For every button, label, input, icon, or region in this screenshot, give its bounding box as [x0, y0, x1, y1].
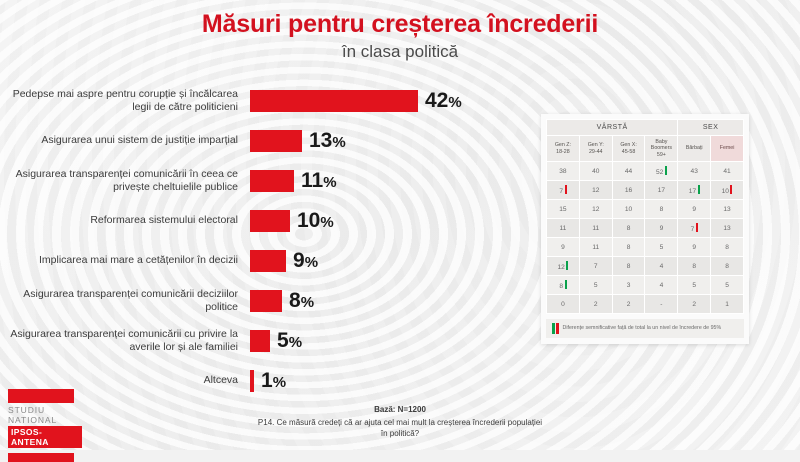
- significance-marker-up-icon: [565, 280, 567, 289]
- chart-bar-value-percent-sign: %: [289, 334, 302, 351]
- chart-bar-value-percent-sign: %: [305, 254, 318, 271]
- footnote: Bază: N=1200 P14. Ce măsură credeți că a…: [255, 404, 545, 440]
- chart-row-label: Asigurarea transparenței comunicării în …: [0, 168, 250, 195]
- crosstab-row: 111189713: [547, 219, 744, 238]
- footnote-base: Bază: N=1200: [255, 404, 545, 416]
- crosstab-cell-value: 11: [559, 225, 566, 232]
- logo-text: STUDIU NATIONAL IPSOS-ANTENA: [8, 406, 82, 450]
- chart-bar-value: 1%: [261, 369, 286, 393]
- crosstab-cell-value: -: [660, 301, 662, 308]
- crosstab-cell: 2: [579, 295, 612, 314]
- crosstab-cell: 9: [645, 219, 678, 238]
- crosstab-cell: 10: [612, 200, 645, 219]
- crosstab-cell-value: 5: [725, 282, 729, 289]
- chart-bar-wrap: 13%: [250, 129, 536, 153]
- chart-bar-wrap: 11%: [250, 169, 536, 193]
- crosstab-cell: 17: [645, 181, 678, 200]
- crosstab-cell-value: 4: [660, 282, 664, 289]
- crosstab-cell: 7: [579, 257, 612, 276]
- logo-bar-bottom: [8, 453, 74, 462]
- crosstab-cell-value: 13: [723, 206, 730, 213]
- crosstab-cell-value: 2: [692, 301, 696, 308]
- bar-chart: Pedepse mai aspre pentru corupție și înc…: [0, 84, 536, 404]
- crosstab-cell: 17: [678, 181, 711, 200]
- crosstab-cell-value: 8: [725, 244, 729, 251]
- crosstab-cell-value: 12: [592, 187, 599, 194]
- crosstab-cell-value: 40: [592, 168, 599, 175]
- chart-row-label: Asigurarea unui sistem de justiție impar…: [0, 134, 250, 147]
- crosstab-cell-value: 9: [660, 225, 664, 232]
- crosstab-column-header: Gen Y:29-44: [579, 136, 612, 162]
- crosstab-cell-value: 1: [725, 301, 729, 308]
- chart-bar-value-percent-sign: %: [448, 94, 461, 111]
- crosstab-cell: 9: [678, 238, 711, 257]
- crosstab-column-header-row: Gen Z:18-28Gen Y:29-44Gen X:45-58BabyBoo…: [547, 136, 744, 162]
- chart-bar-wrap: 10%: [250, 209, 536, 233]
- crosstab-row: 71216171710: [547, 181, 744, 200]
- logo-bar-top: [8, 389, 74, 403]
- crosstab-cell-value: 8: [627, 244, 631, 251]
- crosstab-cell-value: 0: [561, 301, 565, 308]
- chart-bar-value: 11%: [301, 169, 337, 193]
- crosstab-cell: 11: [579, 219, 612, 238]
- chart-bar-wrap: 9%: [250, 249, 536, 273]
- crosstab-cell-value: 7: [594, 263, 598, 270]
- chart-bar-value-number: 8: [289, 289, 301, 312]
- crosstab-cell: 1: [711, 295, 744, 314]
- crosstab-cell-value: 12: [592, 206, 599, 213]
- crosstab-cell: 40: [579, 162, 612, 181]
- page-subtitle: în clasa politică: [0, 42, 800, 62]
- chart-bar: [250, 330, 270, 352]
- chart-bar-wrap: 42%: [250, 89, 536, 113]
- chart-row: Asigurarea transparenței comunicării cu …: [0, 324, 536, 358]
- crosstab-cell: 44: [612, 162, 645, 181]
- crosstab-cell: 41: [711, 162, 744, 181]
- crosstab-panel: VÂRSTĂSEXGen Z:18-28Gen Y:29-44Gen X:45-…: [541, 114, 749, 344]
- chart-bar-wrap: 8%: [250, 289, 536, 313]
- crosstab-cell-value: 43: [691, 168, 698, 175]
- chart-bar-wrap: 5%: [250, 329, 536, 353]
- crosstab-cell: 4: [645, 276, 678, 295]
- crosstab-cell: 11: [579, 238, 612, 257]
- crosstab-cell: 38: [547, 162, 580, 181]
- crosstab-cell-value: 8: [627, 263, 631, 270]
- crosstab-cell: 8: [711, 238, 744, 257]
- crosstab-cell-value: 8: [660, 206, 664, 213]
- chart-bar: [250, 250, 286, 272]
- crosstab-cell: 12: [579, 181, 612, 200]
- crosstab-cell: 5: [579, 276, 612, 295]
- page-title: Măsuri pentru creșterea încrederii: [0, 11, 800, 39]
- crosstab-cell-value: 5: [692, 282, 696, 289]
- significance-legend: Diferențe semnificative față de total la…: [546, 319, 744, 338]
- crosstab-row: 022-21: [547, 295, 744, 314]
- footnote-question: P14. Ce măsură credeți că ar ajuta cel m…: [258, 418, 542, 439]
- crosstab-cell: 2: [678, 295, 711, 314]
- crosstab-row: 9118598: [547, 238, 744, 257]
- crosstab-row: 1278488: [547, 257, 744, 276]
- chart-bar-value: 8%: [289, 289, 314, 313]
- significance-marker-down-icon: [730, 185, 732, 194]
- crosstab-cell-value: 10: [722, 188, 729, 195]
- logo-line-national: NATIONAL: [8, 416, 82, 426]
- crosstab-column-header: Femei: [711, 136, 744, 162]
- crosstab-cell-value: 8: [692, 263, 696, 270]
- crosstab-cell-value: 9: [692, 206, 696, 213]
- significance-marker-down-icon: [565, 185, 567, 194]
- crosstab-row: 1512108913: [547, 200, 744, 219]
- crosstab-cell: 8: [711, 257, 744, 276]
- crosstab-group-header-row: VÂRSTĂSEX: [547, 120, 744, 136]
- crosstab-cell: 8: [547, 276, 580, 295]
- chart-row: Asigurarea unui sistem de justiție impar…: [0, 124, 536, 158]
- crosstab-row: 384044524341: [547, 162, 744, 181]
- chart-bar-value-number: 42: [425, 89, 448, 112]
- crosstab-cell: 8: [612, 238, 645, 257]
- crosstab-cell: 10: [711, 181, 744, 200]
- crosstab-cell: 15: [547, 200, 580, 219]
- chart-bar-value-number: 5: [277, 329, 289, 352]
- chart-bar-value-number: 11: [301, 169, 323, 192]
- crosstab-cell-value: 3: [627, 282, 631, 289]
- crosstab-column-header: Gen X:45-58: [612, 136, 645, 162]
- crosstab-group-header: VÂRSTĂ: [547, 120, 678, 136]
- crosstab-cell: 8: [645, 200, 678, 219]
- crosstab-cell-value: 2: [627, 301, 631, 308]
- chart-bar-value-percent-sign: %: [273, 374, 286, 391]
- logo: STUDIU NATIONAL IPSOS-ANTENA: [8, 389, 82, 462]
- crosstab-cell-value: 52: [656, 169, 663, 176]
- significance-marker-down-icon: [696, 223, 698, 232]
- crosstab-cell: 8: [612, 219, 645, 238]
- chart-bar-value-percent-sign: %: [320, 214, 333, 231]
- crosstab-cell-value: 16: [625, 187, 632, 194]
- chart-row-label: Asigurarea transparenței comunicării dec…: [0, 288, 250, 315]
- significance-marker-up-icon: [665, 166, 667, 175]
- crosstab-cell: 2: [612, 295, 645, 314]
- chart-row: Asigurarea transparenței comunicării în …: [0, 164, 536, 198]
- crosstab-cell: 52: [645, 162, 678, 181]
- crosstab-cell-value: 5: [594, 282, 598, 289]
- crosstab-cell: -: [645, 295, 678, 314]
- crosstab-cell-value: 11: [592, 225, 599, 232]
- crosstab-cell-value: 5: [660, 244, 664, 251]
- title-block: Măsuri pentru creșterea încrederii în cl…: [0, 0, 800, 62]
- logo-line-ipsos-antena: IPSOS-ANTENA: [8, 426, 82, 448]
- crosstab-cell: 8: [678, 257, 711, 276]
- crosstab-cell-value: 10: [625, 206, 632, 213]
- crosstab-cell-value: 7: [559, 188, 563, 195]
- chart-row-label: Altceva: [0, 374, 250, 387]
- chart-bar: [250, 290, 282, 312]
- crosstab-cell-value: 7: [691, 226, 695, 233]
- chart-bar-value: 42%: [425, 89, 462, 113]
- chart-row-label: Implicarea mai mare a cetățenilor în dec…: [0, 254, 250, 267]
- crosstab-cell-value: 13: [723, 225, 730, 232]
- crosstab-cell-value: 11: [592, 244, 599, 251]
- crosstab-column-header: BabyBoomers59+: [645, 136, 678, 162]
- crosstab-cell: 9: [678, 200, 711, 219]
- crosstab-cell: 5: [678, 276, 711, 295]
- chart-bar-value: 5%: [277, 329, 302, 353]
- chart-row: Pedepse mai aspre pentru corupție și înc…: [0, 84, 536, 118]
- chart-bar: [250, 130, 302, 152]
- crosstab-cell: 12: [579, 200, 612, 219]
- chart-row: Reformarea sistemului electoral10%: [0, 204, 536, 238]
- crosstab-group-header: SEX: [678, 120, 744, 136]
- significance-marker-up-icon: [566, 261, 568, 270]
- crosstab-cell: 16: [612, 181, 645, 200]
- crosstab-cell-value: 8: [725, 263, 729, 270]
- crosstab-cell-value: 8: [627, 225, 631, 232]
- crosstab-cell-value: 2: [594, 301, 598, 308]
- crosstab-cell: 13: [711, 200, 744, 219]
- chart-bar: [250, 90, 418, 112]
- crosstab-cell: 12: [547, 257, 580, 276]
- crosstab-cell: 3: [612, 276, 645, 295]
- crosstab-cell: 4: [645, 257, 678, 276]
- chart-row: Asigurarea transparenței comunicării dec…: [0, 284, 536, 318]
- crosstab-cell-value: 38: [559, 168, 566, 175]
- crosstab-cell-value: 41: [723, 168, 730, 175]
- crosstab-row: 853455: [547, 276, 744, 295]
- crosstab-cell-value: 9: [692, 244, 696, 251]
- chart-row-label: Asigurarea transparenței comunicării cu …: [0, 328, 250, 355]
- crosstab-cell-value: 8: [559, 283, 563, 290]
- crosstab-table: VÂRSTĂSEXGen Z:18-28Gen Y:29-44Gen X:45-…: [546, 119, 744, 314]
- chart-row-label: Reformarea sistemului electoral: [0, 214, 250, 227]
- crosstab-cell: 0: [547, 295, 580, 314]
- crosstab-cell-value: 44: [625, 168, 632, 175]
- chart-bar-value-percent-sign: %: [332, 134, 345, 151]
- crosstab-cell: 7: [547, 181, 580, 200]
- chart-bar-value: 10%: [297, 209, 334, 233]
- crosstab-cell: 7: [678, 219, 711, 238]
- crosstab-cell: 43: [678, 162, 711, 181]
- crosstab-cell-value: 17: [689, 188, 696, 195]
- chart-bar-value-percent-sign: %: [301, 294, 314, 311]
- chart-bar-value-number: 10: [297, 209, 320, 232]
- crosstab-cell-value: 9: [561, 244, 565, 251]
- crosstab-column-header: Bărbați: [678, 136, 711, 162]
- crosstab-cell-value: 4: [660, 263, 664, 270]
- chart-bar-wrap: 1%: [250, 369, 536, 393]
- crosstab-cell: 11: [547, 219, 580, 238]
- chart-bar: [250, 170, 294, 192]
- crosstab-cell: 5: [711, 276, 744, 295]
- significance-marker-up-icon: [698, 185, 700, 194]
- chart-bar-value-percent-sign: %: [323, 174, 336, 191]
- chart-bar: [250, 210, 290, 232]
- chart-row: Implicarea mai mare a cetățenilor în dec…: [0, 244, 536, 278]
- crosstab-cell: 8: [612, 257, 645, 276]
- crosstab-cell-value: 17: [658, 187, 665, 194]
- chart-bar: [250, 370, 254, 392]
- crosstab-cell: 13: [711, 219, 744, 238]
- significance-legend-text: Diferențe semnificative față de total la…: [563, 325, 722, 332]
- crosstab-column-header: Gen Z:18-28: [547, 136, 580, 162]
- chart-bar-value: 9%: [293, 249, 318, 273]
- crosstab-cell: 5: [645, 238, 678, 257]
- chart-row-label: Pedepse mai aspre pentru corupție și înc…: [0, 88, 250, 115]
- chart-bar-value: 13%: [309, 129, 346, 153]
- significance-swatch-icon: [550, 323, 559, 334]
- chart-bar-value-number: 13: [309, 129, 332, 152]
- infographic-page: Măsuri pentru creșterea încrederii în cl…: [0, 0, 800, 450]
- chart-bar-value-number: 1: [261, 369, 273, 392]
- crosstab-cell-value: 12: [557, 264, 564, 271]
- crosstab-cell: 9: [547, 238, 580, 257]
- chart-bar-value-number: 9: [293, 249, 305, 272]
- crosstab-cell-value: 15: [559, 206, 566, 213]
